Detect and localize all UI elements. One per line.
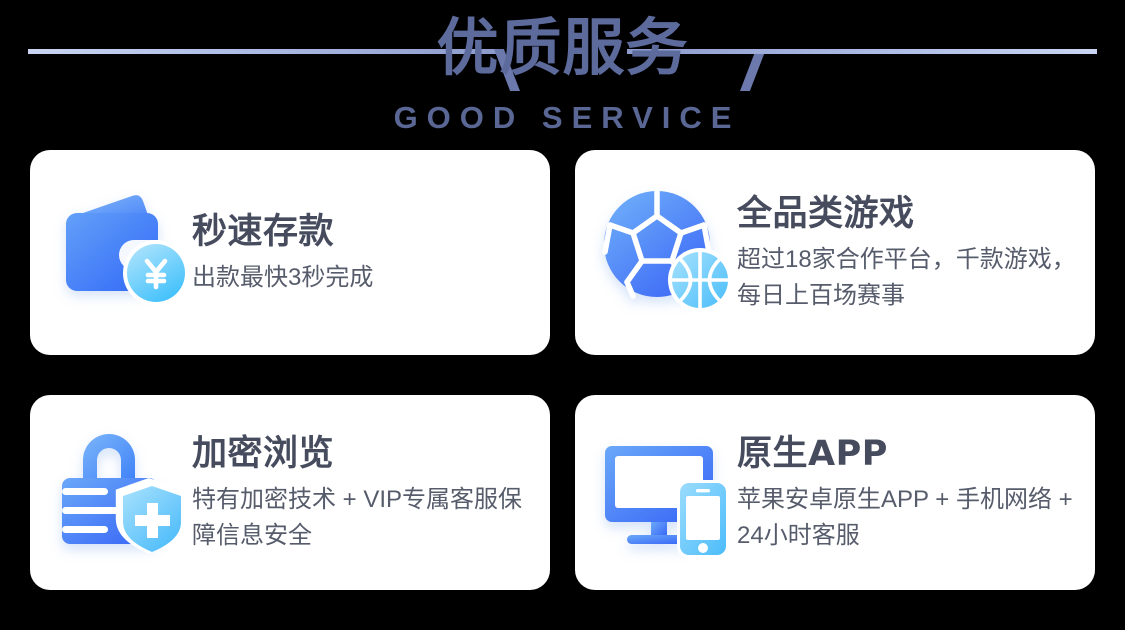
card-text-block: 全品类游戏 超过18家合作平台，千款游戏，每日上百场赛事 bbox=[737, 192, 1095, 314]
feature-card-encryption[interactable]: 加密浏览 特有加密技术 + VIP专属客服保障信息安全 bbox=[30, 395, 550, 590]
card-description: 苹果安卓原生APP + 手机网络 + 24小时客服 bbox=[737, 482, 1081, 554]
card-title: 秒速存款 bbox=[192, 210, 536, 254]
wallet-yen-icon bbox=[48, 178, 198, 328]
card-description: 特有加密技术 + VIP专属客服保障信息安全 bbox=[192, 482, 536, 554]
card-title: 加密浏览 bbox=[192, 432, 536, 476]
soccer-basketball-icon bbox=[593, 178, 743, 328]
page-header: 优质服务 GOOD SERVICE bbox=[0, 0, 1125, 140]
feature-card-games[interactable]: 全品类游戏 超过18家合作平台，千款游戏，每日上百场赛事 bbox=[575, 150, 1095, 355]
page-subtitle: GOOD SERVICE bbox=[0, 100, 1125, 136]
feature-card-native-app[interactable]: 原生APP 苹果安卓原生APP + 手机网络 + 24小时客服 bbox=[575, 395, 1095, 590]
card-title: 原生APP bbox=[737, 432, 1081, 476]
feature-card-deposit[interactable]: 秒速存款 出款最快3秒完成 bbox=[30, 150, 550, 355]
card-text-block: 原生APP 苹果安卓原生APP + 手机网络 + 24小时客服 bbox=[737, 432, 1095, 554]
feature-card-grid: 秒速存款 出款最快3秒完成 bbox=[30, 150, 1095, 590]
page-title: 优质服务 bbox=[0, 12, 1125, 84]
card-title: 全品类游戏 bbox=[737, 192, 1081, 236]
card-description: 超过18家合作平台，千款游戏，每日上百场赛事 bbox=[737, 242, 1081, 314]
card-text-block: 秒速存款 出款最快3秒完成 bbox=[192, 210, 550, 296]
card-text-block: 加密浏览 特有加密技术 + VIP专属客服保障信息安全 bbox=[192, 432, 550, 554]
promo-banner: 优质服务 GOOD SERVICE bbox=[0, 0, 1125, 630]
monitor-phone-icon bbox=[593, 418, 743, 568]
lock-shield-icon bbox=[48, 418, 198, 568]
card-description: 出款最快3秒完成 bbox=[192, 260, 536, 296]
